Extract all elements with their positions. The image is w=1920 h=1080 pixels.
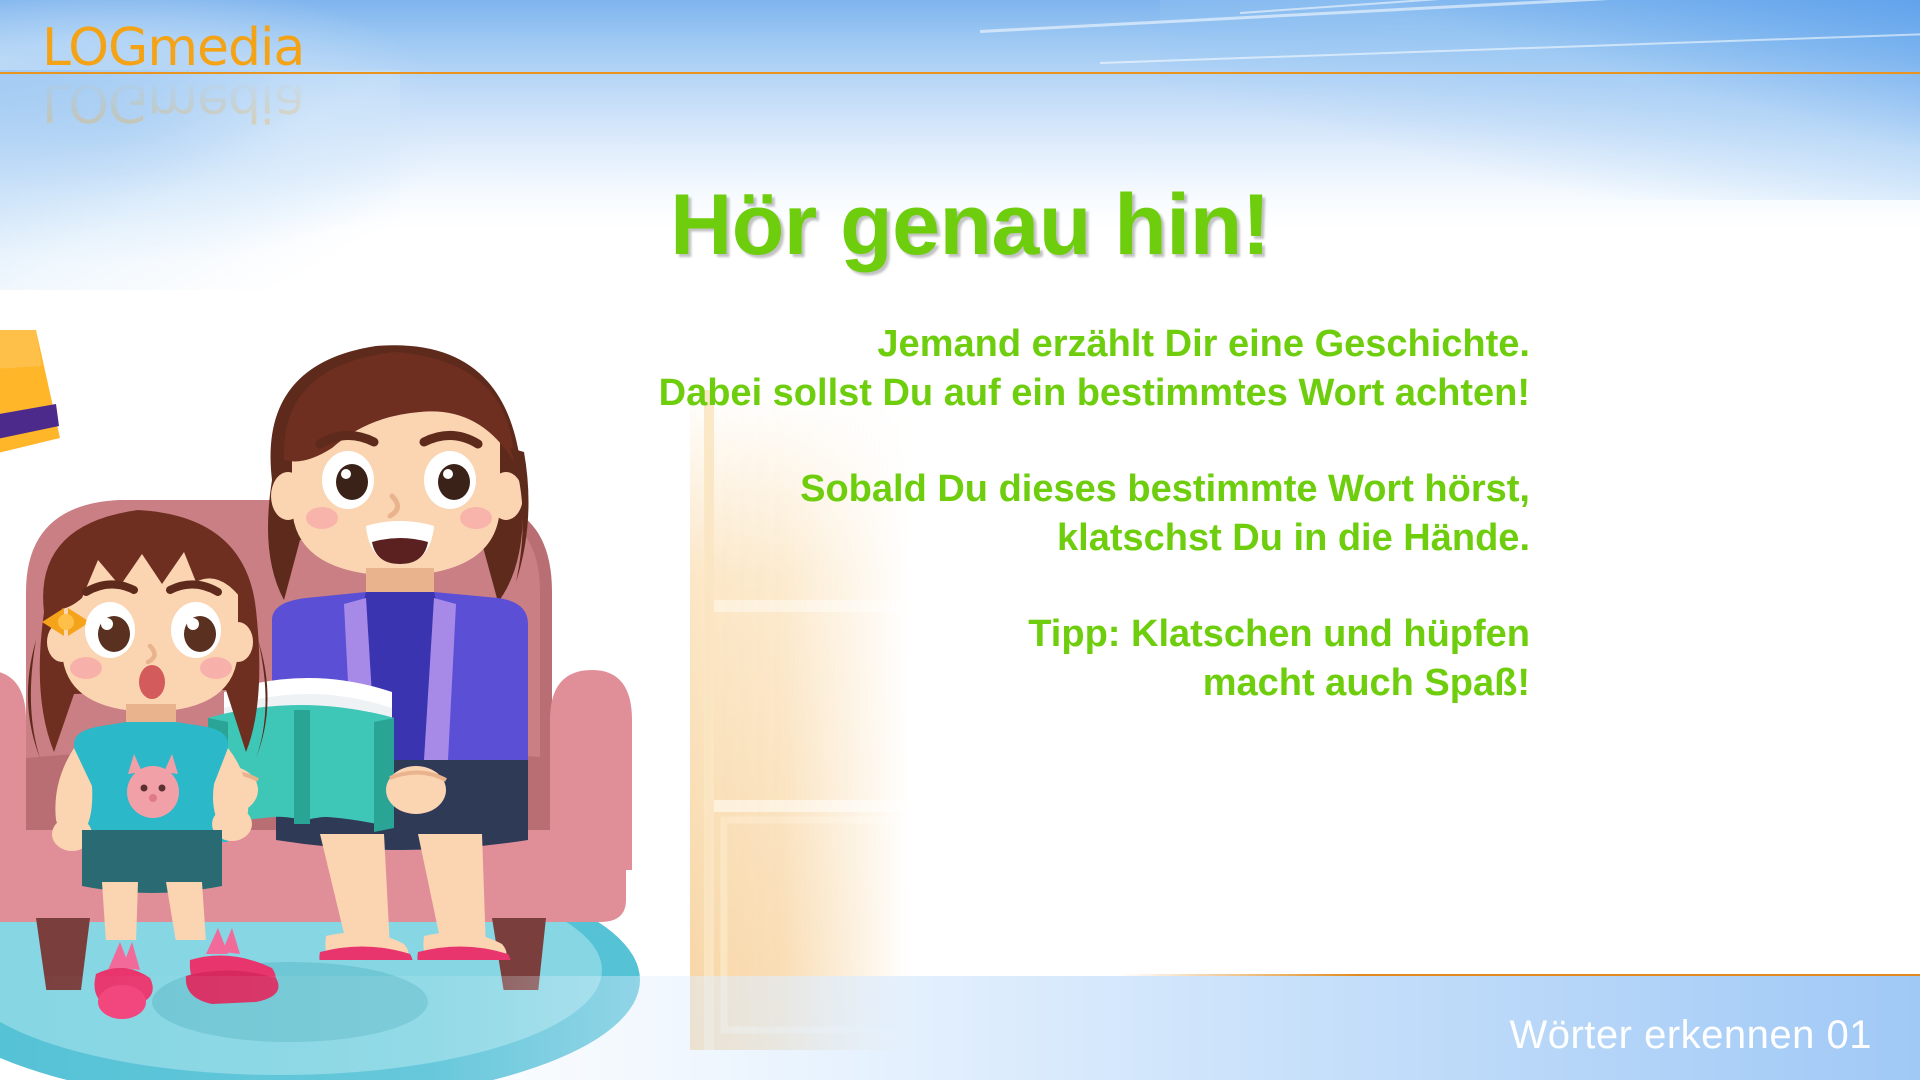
paragraph-spacer <box>420 564 1530 610</box>
child-character <box>10 490 290 940</box>
page-title: Hör genau hin! <box>440 176 1500 275</box>
sky-gradient-right <box>1160 0 1920 200</box>
lamp-shade-icon <box>0 330 84 460</box>
slide-canvas: LOGmedia LOGmedia Hör genau hin! Jemand … <box>0 0 1920 1080</box>
instruction-line-6: macht auch Spaß! <box>420 659 1530 708</box>
instruction-line-2: Dabei sollst Du auf ein bestimmtes Wort … <box>420 369 1530 418</box>
logo-logmedia: LOGmedia <box>42 22 304 74</box>
instruction-line-1: Jemand erzählt Dir eine Geschichte. <box>420 320 1530 369</box>
instruction-line-3: Sobald Du dieses bestimmte Wort hörst, <box>420 465 1530 514</box>
instruction-line-4: klatschst Du in die Hände. <box>420 514 1530 563</box>
paragraph-spacer <box>420 419 1530 465</box>
logo-reflection: LOGmedia <box>42 76 304 128</box>
footer-divider-rule <box>1120 974 1920 976</box>
instruction-line-5: Tipp: Klatschen und hüpfen <box>420 610 1530 659</box>
instruction-text-block: Jemand erzählt Dir eine Geschichte. Dabe… <box>420 320 1530 708</box>
footer-exercise-label: Wörter erkennen 01 <box>1509 1013 1872 1058</box>
